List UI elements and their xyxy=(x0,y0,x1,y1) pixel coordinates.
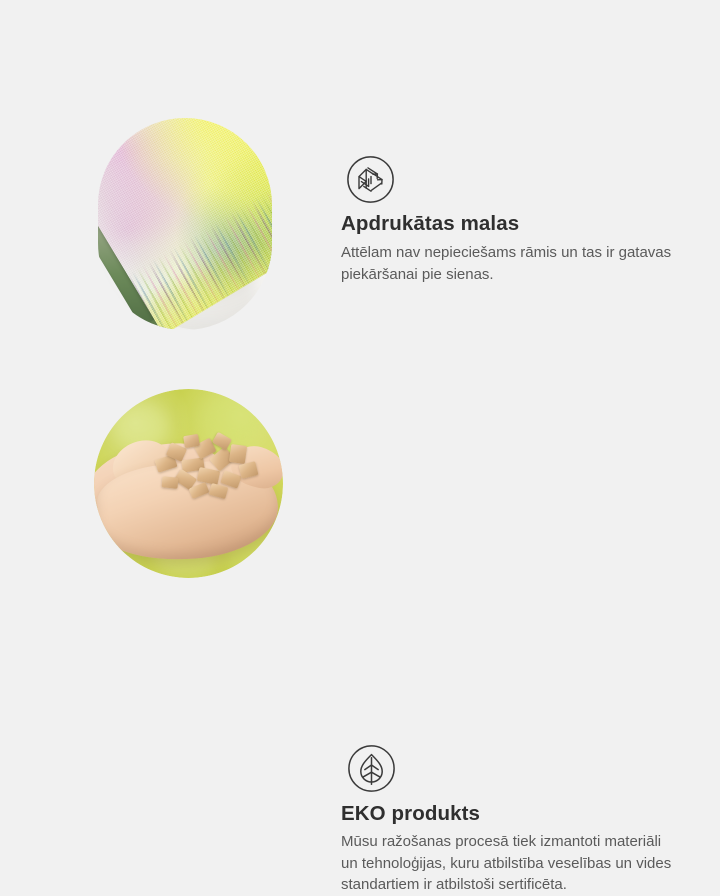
feature-image-printed-edges xyxy=(98,118,272,330)
feature-block-printed-edges: Apdrukātas malas Attēlam nav nepieciešam… xyxy=(0,0,720,350)
feature-heading-eco-product: EKO produkts xyxy=(341,802,480,826)
feature-body-printed-edges: Attēlam nav nepieciešams rāmis un tas ir… xyxy=(341,242,681,285)
feature-block-eco-product: EKO produkts Mūsu ražošanas procesā tiek… xyxy=(0,350,720,720)
feature-body-eco-product: Mūsu ražošanas procesā tiek izmantoti ma… xyxy=(341,831,681,896)
canvas-print-corner xyxy=(98,118,272,330)
feature-image-eco-product xyxy=(94,389,283,578)
product-features-page: Apdrukātas malas Attēlam nav nepieciešam… xyxy=(0,0,720,720)
wood-chips-pile xyxy=(154,433,258,501)
printed-edges-icon xyxy=(346,155,395,204)
leaf-icon xyxy=(347,744,396,793)
grass-background xyxy=(94,389,283,578)
feature-heading-printed-edges: Apdrukātas malas xyxy=(341,212,519,236)
